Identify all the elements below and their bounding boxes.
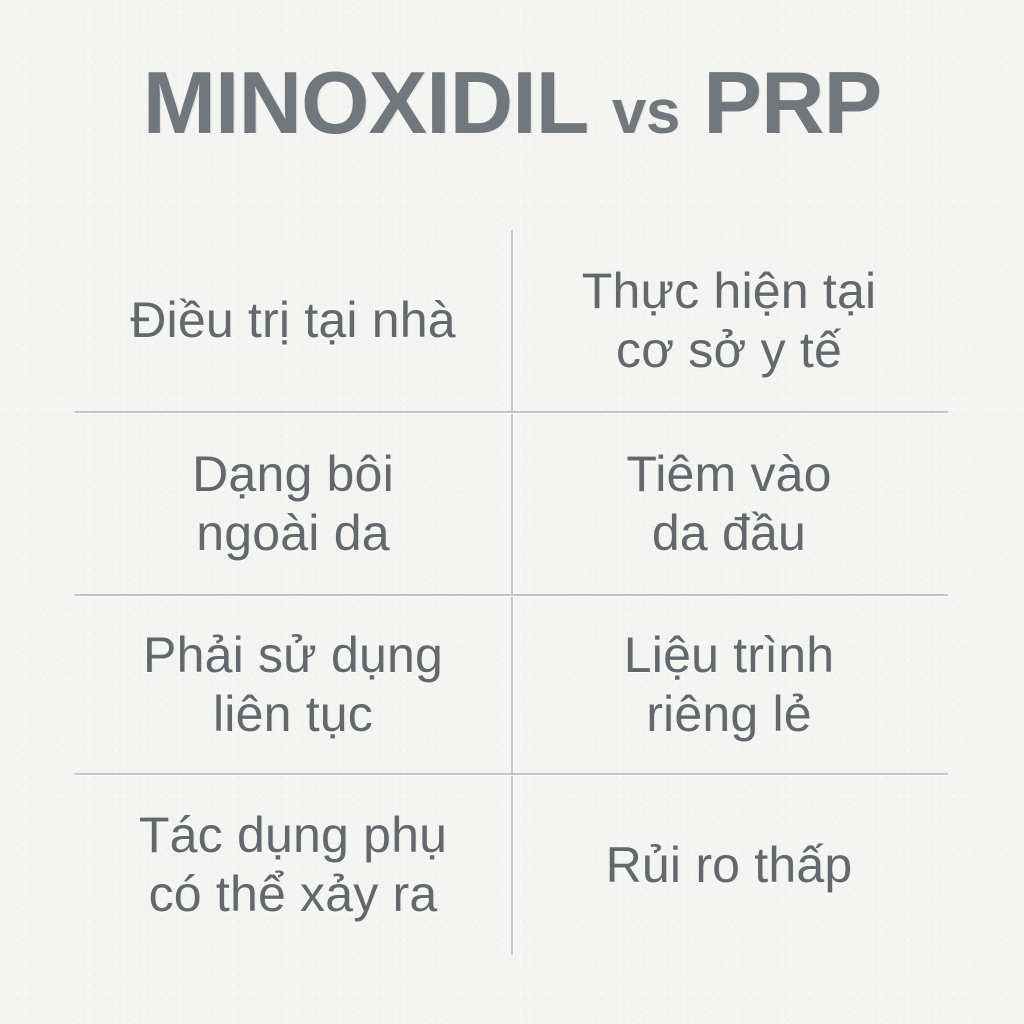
table-row: Phải sử dụng liên tục Liệu trình riêng l… [75, 596, 948, 773]
cell-right-3: Liệu trình riêng lẻ [511, 596, 947, 773]
cell-left-3: Phải sử dụng liên tục [75, 596, 511, 773]
title-space-2 [680, 53, 703, 152]
title-left-term: MINOXIDIL [143, 53, 589, 152]
cell-text: Dạng bôi ngoài da [192, 445, 394, 563]
title-vs-word: vs [612, 78, 680, 147]
cell-text: Tác dụng phụ có thể xảy ra [139, 806, 447, 924]
cell-left-2: Dạng bôi ngoài da [75, 413, 511, 594]
title-space-1 [588, 53, 611, 152]
cell-text: Phải sử dụng liên tục [143, 626, 443, 744]
table-row: Tác dụng phụ có thể xảy ra Rủi ro thấp [75, 775, 948, 955]
cell-left-1: Điều trị tại nhà [75, 230, 511, 411]
cell-text: Tiêm vào da đầu [626, 445, 831, 563]
cell-right-1: Thực hiện tại cơ sở y tế [511, 230, 947, 411]
table-row: Điều trị tại nhà Thực hiện tại cơ sở y t… [75, 230, 948, 411]
comparison-table: Điều trị tại nhà Thực hiện tại cơ sở y t… [75, 230, 948, 955]
cell-right-2: Tiêm vào da đầu [511, 413, 947, 594]
cell-right-4: Rủi ro thấp [511, 775, 947, 955]
infographic-page: MINOXIDIL vs PRP Điều trị tại nhà Thực h… [0, 0, 1024, 1024]
cell-left-4: Tác dụng phụ có thể xảy ra [75, 775, 511, 955]
title-right-term: PRP [703, 53, 881, 152]
cell-text: Rủi ro thấp [606, 836, 853, 895]
cell-text: Liệu trình riêng lẻ [624, 626, 834, 744]
cell-text: Thực hiện tại cơ sở y tế [582, 262, 877, 380]
page-title: MINOXIDIL vs PRP [0, 52, 1024, 154]
table-row: Dạng bôi ngoài da Tiêm vào da đầu [75, 413, 948, 594]
cell-text: Điều trị tại nhà [130, 291, 456, 350]
